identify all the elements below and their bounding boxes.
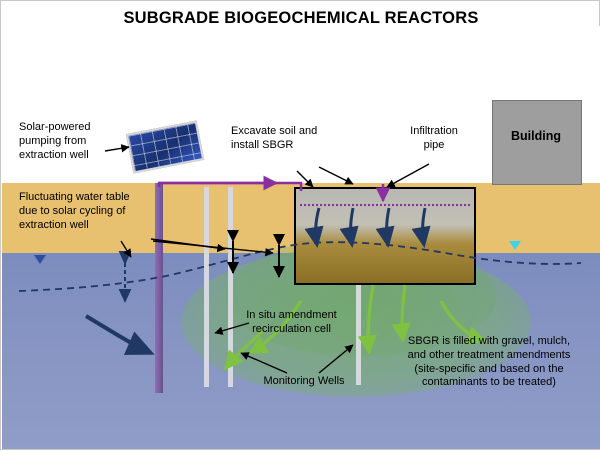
monitoring-well-3: [356, 285, 361, 385]
sbgr-fill-line3: (site-specific and based on the: [414, 363, 563, 375]
monitoring-well-1: [204, 187, 209, 387]
water-table-label-line2: due to solar cycling of: [19, 205, 125, 217]
solar-label: Solar-powered pumping from extraction we…: [19, 121, 119, 162]
water-table-label-line1: Fluctuating water table: [19, 191, 130, 203]
diagram-canvas: SUBGRADE BIOGEOCHEMICAL REACTORS Buildin…: [0, 0, 600, 450]
sbgr-fill-line1: SBGR is filled with gravel, mulch,: [408, 335, 570, 347]
excavate-label-line2: install SBGR: [231, 139, 293, 151]
infiltration-label-line2: pipe: [424, 139, 445, 151]
infiltration-label-line1: Infiltration: [410, 125, 458, 137]
water-table-triangle-icon-left: [34, 255, 46, 264]
sbgr-fill-label: SBGR is filled with gravel, mulch, and o…: [391, 335, 587, 390]
sbgr-fill-line4: contaminants to be treated): [422, 376, 556, 388]
water-table-label: Fluctuating water table due to solar cyc…: [19, 191, 164, 232]
solar-label-line1: Solar-powered: [19, 121, 91, 133]
excavate-label-line1: Excavate soil and: [231, 125, 317, 137]
monitoring-well-2: [228, 187, 233, 387]
sbgr-fill-line2: and other treatment amendments: [408, 349, 571, 361]
insitu-label-line1: In situ amendment: [246, 309, 337, 321]
monitoring-wells-label: Monitoring Wells: [239, 375, 369, 389]
sbgr-box: [294, 187, 476, 285]
solar-label-line2: pumping from: [19, 135, 86, 147]
infiltration-label: Infiltration pipe: [399, 125, 469, 153]
building-label: Building: [492, 129, 580, 143]
insitu-label: In situ amendment recirculation cell: [229, 309, 354, 337]
water-table-triangle-icon-right: [509, 241, 521, 250]
excavate-label: Excavate soil and install SBGR: [231, 125, 361, 153]
solar-label-line3: extraction well: [19, 149, 89, 161]
infiltration-pipe-line: [300, 204, 470, 206]
water-table-label-line3: extraction well: [19, 219, 89, 231]
insitu-label-line2: recirculation cell: [252, 323, 331, 335]
